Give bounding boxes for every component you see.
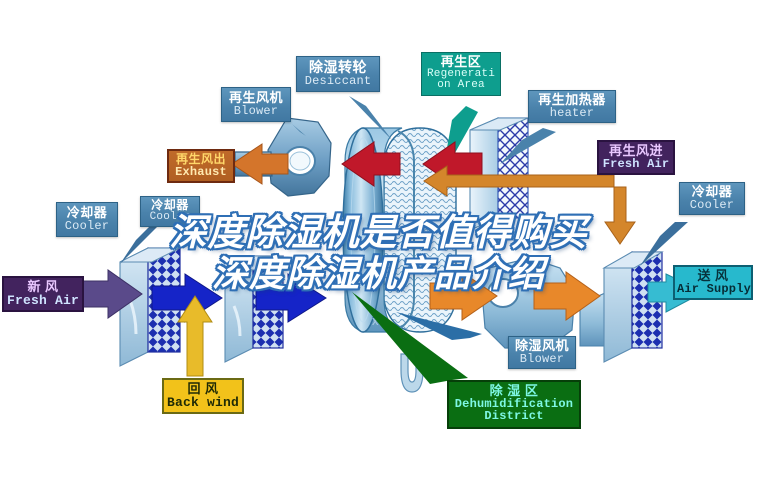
label-dehumidification-district-cn: 除 湿 区 <box>451 384 577 398</box>
dehumidifier-schematic-image: xt <box>0 0 757 488</box>
label-desiccant-rotor[interactable]: 除湿转轮 Desiccant <box>296 56 380 92</box>
label-back-wind-en: Back wind <box>166 396 240 410</box>
label-dehumidification-blower-en: Blower <box>511 353 573 366</box>
label-air-supply-en: Air Supply <box>677 283 749 296</box>
label-fresh-air-inlet-cn: 新 风 <box>6 280 80 294</box>
label-cooler-left-upper-en: Cooler <box>143 212 197 224</box>
label-desiccant-rotor-cn: 除湿转轮 <box>299 60 377 75</box>
label-regeneration-heater-en: heater <box>531 107 613 120</box>
label-cooler-left-lower[interactable]: 冷却器 Cooler <box>56 202 118 237</box>
label-regeneration-heater-cn: 再生加热器 <box>531 93 613 107</box>
label-regeneration-fresh-air-en: Fresh Air <box>601 158 671 171</box>
label-cooler-left-upper[interactable]: 冷却器 Cooler <box>140 196 200 227</box>
label-dehumidification-blower[interactable]: 除湿风机 Blower <box>508 336 576 369</box>
label-regeneration-blower[interactable]: 再生风机 Blower <box>221 87 291 122</box>
label-fresh-air-inlet-en: Fresh Air <box>6 294 80 308</box>
label-fresh-air-inlet[interactable]: 新 风 Fresh Air <box>2 276 84 312</box>
label-cooler-right-en: Cooler <box>682 199 742 212</box>
label-regeneration-heater[interactable]: 再生加热器 heater <box>528 90 616 123</box>
label-cooler-right[interactable]: 冷却器 Cooler <box>679 182 745 215</box>
label-regeneration-area-cn: 再生区 <box>424 55 498 69</box>
label-air-supply[interactable]: 送 风 Air Supply <box>673 265 753 300</box>
label-regeneration-fresh-air-cn: 再生风进 <box>601 144 671 158</box>
label-cooler-left-lower-cn: 冷却器 <box>59 206 115 220</box>
label-exhaust[interactable]: 再生风出 Exhaust <box>167 149 235 183</box>
label-regeneration-blower-cn: 再生风机 <box>224 91 288 105</box>
label-dehumidification-blower-cn: 除湿风机 <box>511 339 573 353</box>
label-exhaust-cn: 再生风出 <box>171 153 231 166</box>
label-cooler-left-upper-cn: 冷却器 <box>143 199 197 212</box>
label-dehumidification-district[interactable]: 除 湿 区 Dehumidification District <box>447 380 581 429</box>
label-exhaust-en: Exhaust <box>171 166 231 179</box>
label-regeneration-area-en-2: on Area <box>424 80 498 92</box>
label-back-wind-cn: 回 风 <box>166 382 240 396</box>
label-air-supply-cn: 送 风 <box>677 269 749 283</box>
label-back-wind[interactable]: 回 风 Back wind <box>162 378 244 414</box>
label-desiccant-rotor-en: Desiccant <box>299 75 377 88</box>
label-dehumidification-district-en-2: District <box>451 410 577 423</box>
label-regeneration-blower-en: Blower <box>224 105 288 118</box>
label-regeneration-fresh-air[interactable]: 再生风进 Fresh Air <box>597 140 675 175</box>
label-cooler-left-lower-en: Cooler <box>59 220 115 233</box>
label-cooler-right-cn: 冷却器 <box>682 185 742 199</box>
label-regeneration-area[interactable]: 再生区 Regenerati on Area <box>421 52 501 96</box>
cooling-coil-3-shape <box>604 252 662 362</box>
